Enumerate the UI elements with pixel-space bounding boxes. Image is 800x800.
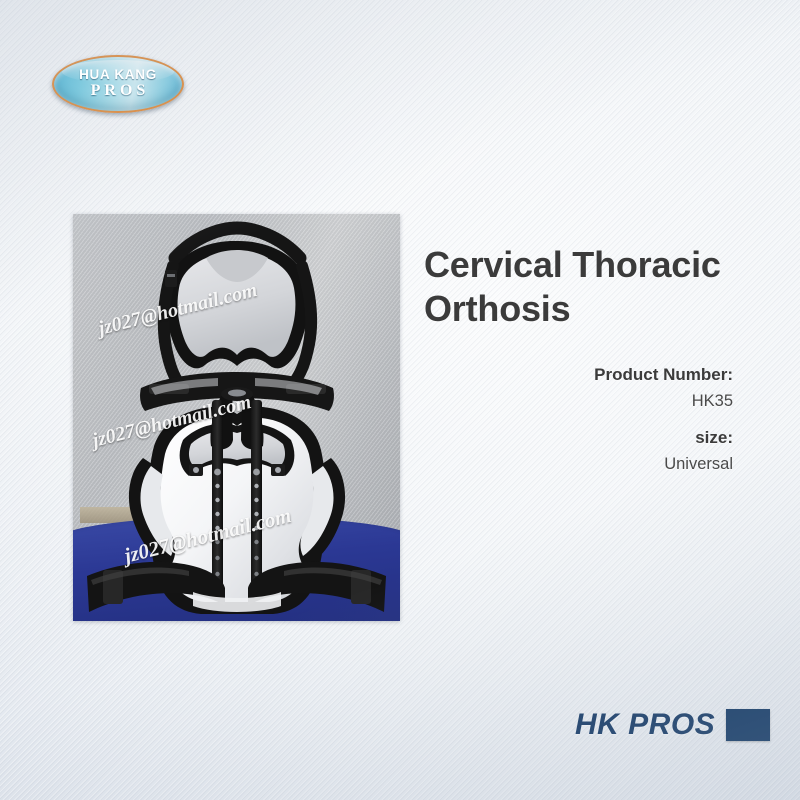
footer-brand-text: HK PROS: [575, 708, 715, 742]
brand-logo: HUA KANG PROS: [52, 55, 184, 113]
footer-accent-block: [726, 709, 770, 741]
spec-value-size: Universal: [403, 451, 733, 477]
product-photo: jz027@hotmail.com jz027@hotmail.com jz02…: [73, 214, 400, 621]
spec-label-product-number: Product Number:: [403, 362, 733, 388]
product-banner: HUA KANG PROS: [0, 0, 800, 800]
product-specs: Product Number: HK35 size: Universal: [403, 362, 733, 477]
brand-logo-line-secondary: PROS: [87, 82, 150, 100]
brand-logo-line-primary: HUA KANG: [79, 68, 157, 82]
footer-brand-mark: HK PROS: [575, 708, 770, 742]
spec-label-size: size:: [403, 425, 733, 451]
spec-value-product-number: HK35: [403, 388, 733, 414]
product-title: Cervical Thoracic Orthosis: [424, 243, 750, 331]
orthosis-brace-illustration: [73, 214, 400, 621]
